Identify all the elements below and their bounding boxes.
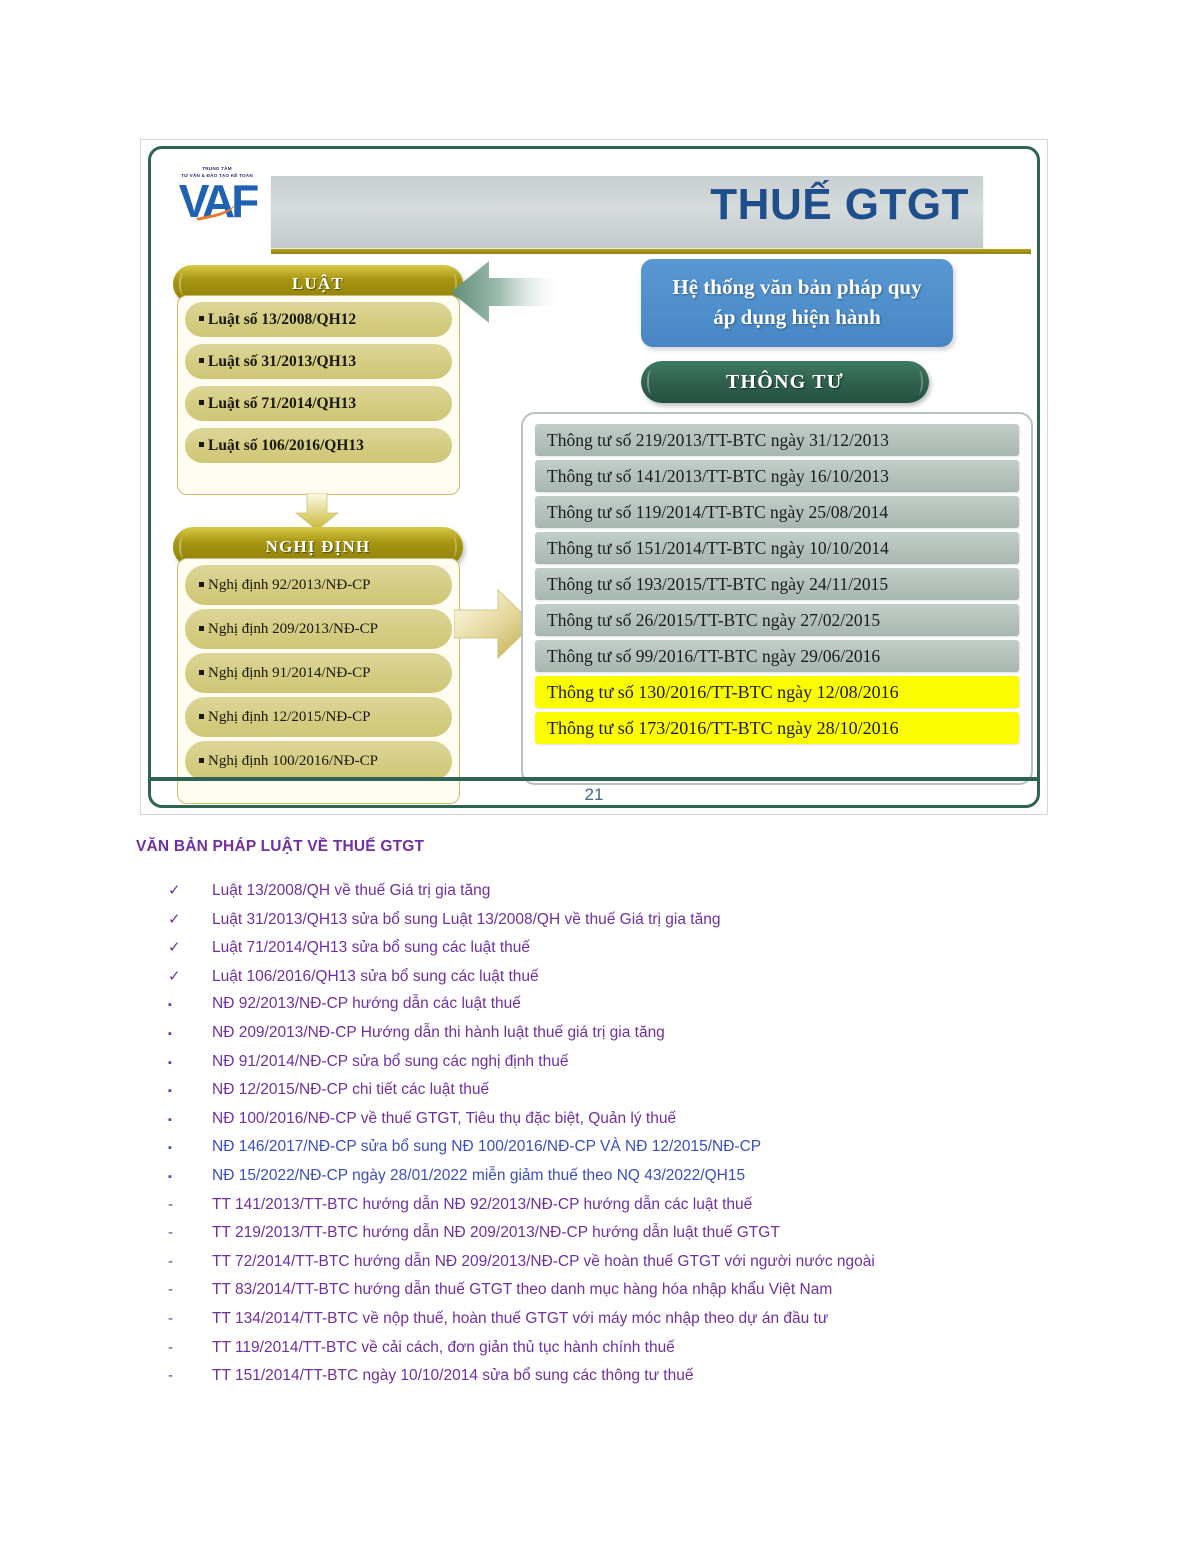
slide-frame: THUẾ GTGT TRUNG TÂMTƯ VẤN & ĐÀO TẠO KẾ T…: [148, 146, 1040, 808]
square-bullet-icon: [199, 400, 204, 405]
square-bullet-icon: [199, 442, 204, 447]
thong-tu-item-highlighted: Thông tư số 130/2016/TT-BTC ngày 12/08/2…: [535, 676, 1019, 708]
thong-tu-item: Thông tư số 119/2014/TT-BTC ngày 25/08/2…: [535, 496, 1019, 528]
arrow-down-icon: [294, 493, 340, 531]
section-header-thong-tu: THÔNG TƯ: [641, 361, 929, 403]
square-bullet-icon: ▪: [168, 1057, 212, 1069]
list-item: -TT 83/2014/TT-BTC hướng dẫn thuế GTGT t…: [168, 1281, 1118, 1310]
logo-wordmark: VAF: [165, 180, 269, 222]
list-item-label: Luật 13/2008/QH về thuế Giá trị gia tăng: [212, 882, 490, 900]
thong-tu-list: Thông tư số 219/2013/TT-BTC ngày 31/12/2…: [521, 412, 1033, 785]
list-item-label: NĐ 15/2022/NĐ-CP ngày 28/01/2022 miễn gi…: [212, 1167, 745, 1185]
luat-list: Luật số 13/2008/QH12 Luật số 31/2013/QH1…: [177, 295, 460, 495]
luat-item: Luật số 71/2014/QH13: [185, 386, 452, 421]
list-item: ▪NĐ 15/2022/NĐ-CP ngày 28/01/2022 miễn g…: [168, 1167, 1118, 1196]
list-item: -TT 119/2014/TT-BTC về cải cách, đơn giả…: [168, 1339, 1118, 1368]
check-bullet-icon: ✓: [168, 938, 212, 956]
thong-tu-item: Thông tư số 99/2016/TT-BTC ngày 29/06/20…: [535, 640, 1019, 672]
list-item-label: NĐ 12/2015/NĐ-CP chi tiết các luật thuế: [212, 1081, 489, 1099]
dash-bullet-icon: -: [168, 1281, 212, 1298]
page-title: VĂN BẢN PHÁP LUẬT VỀ THUẾ GTGT: [136, 838, 424, 856]
check-bullet-icon: ✓: [168, 910, 212, 928]
square-bullet-icon: ▪: [168, 1142, 212, 1154]
dash-bullet-icon: -: [168, 1339, 212, 1356]
list-item-label: TT 134/2014/TT-BTC về nộp thuế, hoàn thu…: [212, 1310, 828, 1328]
slide-bottom-rule: [151, 777, 1037, 781]
list-item-label: TT 141/2013/TT-BTC hướng dẫn NĐ 92/2013/…: [212, 1196, 752, 1214]
list-item-label: TT 119/2014/TT-BTC về cải cách, đơn giản…: [212, 1339, 675, 1357]
callout-box: Hệ thống văn bản pháp quy áp dụng hiện h…: [641, 259, 953, 347]
list-item-label: Luật 71/2014/QH13 sửa bổ sung các luật t…: [212, 939, 530, 957]
list-item: ✓Luật 31/2013/QH13 sửa bổ sung Luật 13/2…: [168, 910, 1118, 939]
list-item-label: NĐ 100/2016/NĐ-CP về thuế GTGT, Tiêu thụ…: [212, 1110, 676, 1128]
square-bullet-icon: [199, 670, 204, 675]
list-item: ✓Luật 13/2008/QH về thuế Giá trị gia tăn…: [168, 881, 1118, 910]
slide-title-bar: THUẾ GTGT: [271, 176, 983, 248]
list-item-label: TT 151/2014/TT-BTC ngày 10/10/2014 sửa b…: [212, 1367, 693, 1385]
list-item: ✓Luật 106/2016/QH13 sửa bổ sung các luật…: [168, 967, 1118, 996]
vaf-logo: TRUNG TÂMTƯ VẤN & ĐÀO TẠO KẾ TOÁN VAF: [165, 157, 269, 245]
square-bullet-icon: ▪: [168, 1114, 212, 1126]
luat-item: Luật số 13/2008/QH12: [185, 302, 452, 337]
thong-tu-item: Thông tư số 219/2013/TT-BTC ngày 31/12/2…: [535, 424, 1019, 456]
slide-title: THUẾ GTGT: [710, 180, 969, 230]
square-bullet-icon: [199, 626, 204, 631]
thong-tu-item: Thông tư số 26/2015/TT-BTC ngày 27/02/20…: [535, 604, 1019, 636]
nghi-dinh-item: Nghị định 92/2013/NĐ-CP: [185, 565, 452, 605]
luat-item-label: Luật số 13/2008/QH12: [208, 311, 356, 328]
check-bullet-icon: ✓: [168, 967, 212, 985]
list-item-label: Luật 31/2013/QH13 sửa bổ sung Luật 13/20…: [212, 911, 720, 929]
title-underline: [271, 249, 1031, 254]
arrow-left-icon: [451, 259, 561, 325]
thong-tu-item: Thông tư số 141/2013/TT-BTC ngày 16/10/2…: [535, 460, 1019, 492]
list-item: -TT 72/2014/TT-BTC hướng dẫn NĐ 209/2013…: [168, 1253, 1118, 1282]
nghi-dinh-item: Nghị định 209/2013/NĐ-CP: [185, 609, 452, 649]
list-item: ▪NĐ 100/2016/NĐ-CP về thuế GTGT, Tiêu th…: [168, 1110, 1118, 1139]
slide-page-number: 21: [151, 785, 1037, 805]
list-item: ▪NĐ 92/2013/NĐ-CP hướng dẫn các luật thu…: [168, 995, 1118, 1024]
list-item-label: TT 72/2014/TT-BTC hướng dẫn NĐ 209/2013/…: [212, 1253, 875, 1271]
luat-item: Luật số 31/2013/QH13: [185, 344, 452, 379]
luat-item-label: Luật số 71/2014/QH13: [208, 395, 356, 412]
list-item: ✓Luật 71/2014/QH13 sửa bổ sung các luật …: [168, 938, 1118, 967]
nghi-dinh-item-label: Nghị định 100/2016/NĐ-CP: [208, 753, 378, 769]
list-item: -TT 219/2013/TT-BTC hướng dẫn NĐ 209/201…: [168, 1224, 1118, 1253]
list-item: ▪NĐ 91/2014/NĐ-CP sửa bổ sung các nghị đ…: [168, 1053, 1118, 1082]
list-item: ▪NĐ 146/2017/NĐ-CP sửa bổ sung NĐ 100/20…: [168, 1138, 1118, 1167]
list-item-label: NĐ 209/2013/NĐ-CP Hướng dẫn thi hành luậ…: [212, 1024, 665, 1042]
dash-bullet-icon: -: [168, 1310, 212, 1327]
list-item: -TT 151/2014/TT-BTC ngày 10/10/2014 sửa …: [168, 1367, 1118, 1396]
check-bullet-icon: ✓: [168, 881, 212, 899]
square-bullet-icon: ▪: [168, 1171, 212, 1183]
slide-image: THUẾ GTGT TRUNG TÂMTƯ VẤN & ĐÀO TẠO KẾ T…: [140, 139, 1048, 815]
luat-item: Luật số 106/2016/QH13: [185, 428, 452, 463]
list-item-label: TT 83/2014/TT-BTC hướng dẫn thuế GTGT th…: [212, 1281, 832, 1299]
thong-tu-item: Thông tư số 151/2014/TT-BTC ngày 10/10/2…: [535, 532, 1019, 564]
nghi-dinh-item-label: Nghị định 209/2013/NĐ-CP: [208, 621, 378, 637]
list-item-label: NĐ 92/2013/NĐ-CP hướng dẫn các luật thuế: [212, 995, 521, 1013]
square-bullet-icon: [199, 316, 204, 321]
list-item: ▪NĐ 12/2015/NĐ-CP chi tiết các luật thuế: [168, 1081, 1118, 1110]
square-bullet-icon: [199, 758, 204, 763]
list-item: -TT 134/2014/TT-BTC về nộp thuế, hoàn th…: [168, 1310, 1118, 1339]
list-item-label: NĐ 91/2014/NĐ-CP sửa bổ sung các nghị đị…: [212, 1053, 568, 1071]
nghi-dinh-item-label: Nghị định 12/2015/NĐ-CP: [208, 709, 371, 725]
thong-tu-item-highlighted: Thông tư số 173/2016/TT-BTC ngày 28/10/2…: [535, 712, 1019, 744]
dash-bullet-icon: -: [168, 1367, 212, 1384]
list-item-label: TT 219/2013/TT-BTC hướng dẫn NĐ 209/2013…: [212, 1224, 780, 1242]
nghi-dinh-item-label: Nghị định 92/2013/NĐ-CP: [208, 577, 371, 593]
square-bullet-icon: ▪: [168, 1085, 212, 1097]
nghi-dinh-item: Nghị định 100/2016/NĐ-CP: [185, 741, 452, 781]
dash-bullet-icon: -: [168, 1224, 212, 1241]
nghi-dinh-item: Nghị định 91/2014/NĐ-CP: [185, 653, 452, 693]
nghi-dinh-item-label: Nghị định 91/2014/NĐ-CP: [208, 665, 371, 681]
square-bullet-icon: ▪: [168, 999, 212, 1011]
list-item-label: Luật 106/2016/QH13 sửa bổ sung các luật …: [212, 968, 539, 986]
list-item: ▪NĐ 209/2013/NĐ-CP Hướng dẫn thi hành lu…: [168, 1024, 1118, 1053]
legal-documents-list: ✓Luật 13/2008/QH về thuế Giá trị gia tăn…: [168, 881, 1118, 1396]
callout-line-2: áp dụng hiện hành: [641, 302, 953, 332]
list-item: -TT 141/2013/TT-BTC hướng dẫn NĐ 92/2013…: [168, 1196, 1118, 1225]
square-bullet-icon: [199, 582, 204, 587]
nghi-dinh-item: Nghị định 12/2015/NĐ-CP: [185, 697, 452, 737]
list-item-label: NĐ 146/2017/NĐ-CP sửa bổ sung NĐ 100/201…: [212, 1138, 761, 1156]
thong-tu-item: Thông tư số 193/2015/TT-BTC ngày 24/11/2…: [535, 568, 1019, 600]
dash-bullet-icon: -: [168, 1196, 212, 1213]
luat-item-label: Luật số 106/2016/QH13: [208, 437, 364, 454]
dash-bullet-icon: -: [168, 1253, 212, 1270]
nghi-dinh-list: Nghị định 92/2013/NĐ-CP Nghị định 209/20…: [177, 558, 460, 804]
callout-line-1: Hệ thống văn bản pháp quy: [641, 272, 953, 302]
square-bullet-icon: ▪: [168, 1028, 212, 1040]
square-bullet-icon: [199, 714, 204, 719]
square-bullet-icon: [199, 358, 204, 363]
luat-item-label: Luật số 31/2013/QH13: [208, 353, 356, 370]
